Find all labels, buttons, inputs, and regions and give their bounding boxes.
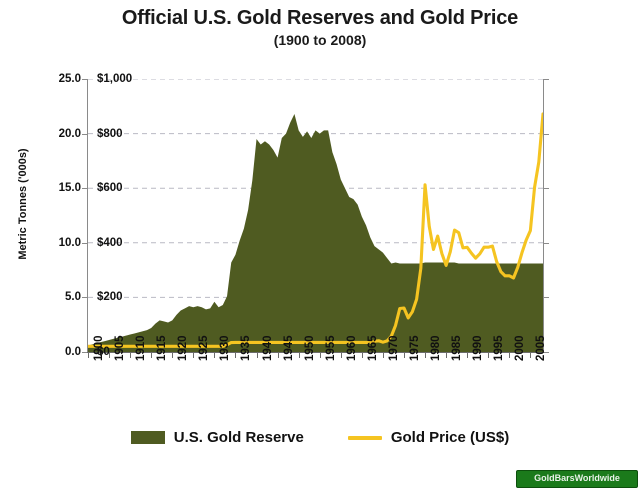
gold-reserve-area [88,114,543,352]
x-axis-tickmark [446,353,447,358]
x-axis-tick-label: 1915 [156,335,168,361]
watermark-banner: GoldBarsWorldwide [516,470,638,488]
plot-area: 0.05.010.015.020.025.0 $0$200$400$600$80… [88,79,543,352]
y-axis-right-tickmark [544,79,549,80]
x-axis-tick-label: 1950 [304,335,316,361]
x-axis-tick-label: 1970 [388,335,400,361]
x-axis-tickmark [509,353,510,358]
title-block: Official U.S. Gold Reserves and Gold Pri… [0,6,640,49]
y-axis-right-tick-label: $200 [88,291,123,303]
y-axis-left-tickmark [82,243,87,244]
x-axis-tick-label: 1995 [493,335,505,361]
x-axis-tick-label: 1905 [114,335,126,361]
x-axis-tick-label: 1975 [409,335,421,361]
legend-item-gold-reserve[interactable]: U.S. Gold Reserve [131,429,304,446]
chart-container: Official U.S. Gold Reserves and Gold Pri… [0,0,640,480]
watermark-label: GoldBarsWorldwide [517,471,637,485]
y-axis-right-tick-label: $800 [88,128,123,140]
x-axis-tick-label: 2005 [535,335,547,361]
x-axis-tick-label: 1945 [283,335,295,361]
x-axis-tick-label: 1930 [219,335,231,361]
x-axis-tickmark [235,353,236,358]
y-axis-left-title: Metric Tonnes ('000s) [17,124,29,284]
x-axis-tickmark [214,353,215,358]
y-axis-right-tickmark [544,243,549,244]
x-axis-tickmark [130,353,131,358]
y-axis-right-tickmark [544,134,549,135]
x-axis-tickmark [362,353,363,358]
x-axis-tickmark [257,353,258,358]
y-axis-left-tickmark [82,79,87,80]
x-axis-tickmark [172,353,173,358]
legend: U.S. Gold Reserve Gold Price (US$) [0,429,640,446]
legend-label-gold-price: Gold Price (US$) [391,429,509,446]
x-axis-tickmark [404,353,405,358]
x-axis-tick-label: 1955 [325,335,337,361]
y-axis-right-line [543,79,544,352]
x-axis-tick-label: 2000 [514,335,526,361]
x-axis-tickmark [299,353,300,358]
y-axis-right-tick-label: $1,000 [88,73,132,85]
legend-label-gold-reserve: U.S. Gold Reserve [174,429,304,446]
x-axis-tick-label: 1900 [93,335,105,361]
legend-item-gold-price[interactable]: Gold Price (US$) [348,429,509,446]
x-axis-tick-label: 1910 [135,335,147,361]
x-axis-tickmark [278,353,279,358]
x-axis-tick-label: 1925 [198,335,210,361]
y-axis-right-tickmark [544,297,549,298]
line-swatch-icon [348,436,382,440]
x-axis-tickmark [425,353,426,358]
y-axis-right-tick-label: $600 [88,182,123,194]
x-axis-tick-label: 1980 [430,335,442,361]
x-axis-tick-label: 1965 [367,335,379,361]
x-axis-tickmark [320,353,321,358]
x-axis-tick-label: 1935 [240,335,252,361]
x-axis-tick-label: 1985 [451,335,463,361]
y-axis-right-tickmark [544,188,549,189]
x-axis-tickmark [151,353,152,358]
x-axis-tickmark [530,353,531,358]
x-axis-tick-label: 1920 [177,335,189,361]
y-axis-left-tickmark [82,134,87,135]
plot-svg [88,79,543,352]
x-axis-tickmark [488,353,489,358]
x-axis-tickmark [341,353,342,358]
area-swatch-icon [131,431,165,444]
x-axis-tickmark [193,353,194,358]
chart-subtitle: (1900 to 2008) [0,31,640,49]
x-axis-tick-label: 1990 [472,335,484,361]
x-axis-tick-label: 1960 [346,335,358,361]
y-axis-left-tickmark [82,352,87,353]
y-axis-left-tickmark [82,297,87,298]
x-axis-tickmark [109,353,110,358]
y-axis-left-tickmark [82,188,87,189]
x-axis-tickmark [383,353,384,358]
x-axis-tickmark [467,353,468,358]
x-axis-tickmark [88,353,89,358]
y-axis-right-tick-label: $400 [88,237,123,249]
x-axis-tick-label: 1940 [262,335,274,361]
page-title: Official U.S. Gold Reserves and Gold Pri… [0,6,640,30]
